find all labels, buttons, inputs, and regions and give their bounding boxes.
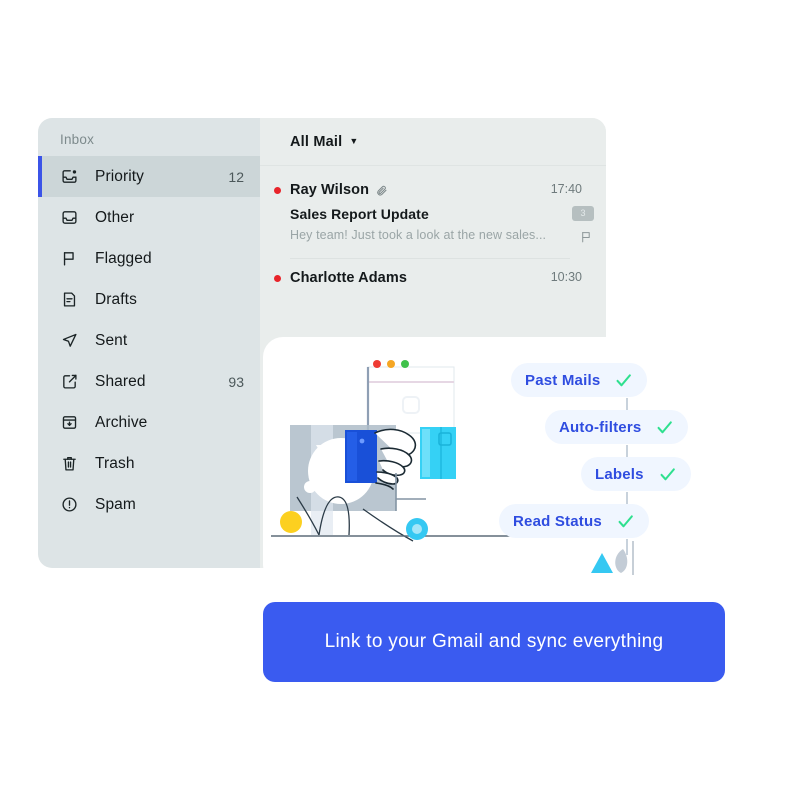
sync-step-past-mails: Past Mails	[511, 363, 647, 397]
sidebar-title: Inbox	[60, 132, 94, 147]
attachment-paperclip-icon	[376, 184, 388, 197]
step-pill: Auto-filters	[545, 410, 688, 444]
flag-icon[interactable]	[580, 230, 593, 244]
sidebar-item-label: Priority	[95, 168, 228, 186]
mail-list-item[interactable]: Ray Wilson 17:40 Sales Report Update Hey…	[260, 178, 606, 256]
step-pill: Labels	[581, 457, 691, 491]
sync-step-auto-filters: Auto-filters	[545, 410, 688, 444]
list-divider	[290, 258, 570, 259]
sidebar-item-label: Flagged	[95, 250, 244, 268]
unread-dot-icon	[274, 187, 281, 194]
chevron-down-icon: ▼	[349, 137, 358, 146]
sidebar-item-label: Drafts	[95, 291, 244, 309]
draft-document-icon	[60, 290, 79, 309]
sidebar-item-label: Shared	[95, 373, 228, 391]
sidebar-item-label: Other	[95, 209, 244, 227]
mail-timestamp: 17:40	[551, 182, 582, 196]
step-label: Past Mails	[525, 372, 600, 389]
sync-step-labels: Labels	[581, 457, 691, 491]
sidebar-item-label: Trash	[95, 455, 244, 473]
sidebar-item-flagged[interactable]: Flagged	[38, 238, 260, 279]
mail-subject: Sales Report Update	[290, 206, 582, 222]
screenshot-root: Inbox Priority 12	[0, 0, 788, 788]
sync-promo-card: Past Mails Auto-filters	[263, 337, 725, 585]
check-icon	[614, 371, 633, 390]
sidebar-item-other[interactable]: Other	[38, 197, 260, 238]
step-connector	[626, 539, 628, 555]
check-icon	[616, 512, 635, 531]
mail-timestamp: 10:30	[551, 270, 582, 284]
archive-box-icon	[60, 413, 79, 432]
sync-steps-list: Past Mails Auto-filters	[485, 363, 725, 563]
check-icon	[658, 465, 677, 484]
mail-count-badge: 3	[572, 206, 594, 221]
inbox-priority-icon	[60, 167, 79, 186]
step-label: Labels	[595, 466, 644, 483]
mail-sidebar: Inbox Priority 12	[38, 118, 260, 568]
paper-plane-icon	[60, 331, 79, 350]
sidebar-item-trash[interactable]: Trash	[38, 443, 260, 484]
mail-filter-label: All Mail	[290, 134, 342, 150]
sidebar-item-archive[interactable]: Archive	[38, 402, 260, 443]
alert-circle-icon	[60, 495, 79, 514]
step-pill: Read Status	[499, 504, 649, 538]
sync-step-read-status: Read Status	[499, 504, 649, 538]
sidebar-item-count: 93	[228, 374, 244, 390]
check-icon	[655, 418, 674, 437]
flag-icon	[60, 249, 79, 268]
mail-filter-dropdown[interactable]: All Mail ▼	[260, 118, 606, 166]
mail-sender: Charlotte Adams	[290, 270, 407, 286]
sidebar-item-spam[interactable]: Spam	[38, 484, 260, 525]
sidebar-item-sent[interactable]: Sent	[38, 320, 260, 361]
sidebar-item-priority[interactable]: Priority 12	[38, 156, 260, 197]
share-box-icon	[60, 372, 79, 391]
unread-dot-icon	[274, 275, 281, 282]
inbox-icon	[60, 208, 79, 227]
step-pill: Past Mails	[511, 363, 647, 397]
mail-list-item[interactable]: Charlotte Adams 10:30	[260, 266, 606, 306]
step-label: Read Status	[513, 513, 602, 530]
link-gmail-button-label: Link to your Gmail and sync everything	[325, 631, 664, 653]
sidebar-item-shared[interactable]: Shared 93	[38, 361, 260, 402]
sidebar-item-label: Spam	[95, 496, 244, 514]
sidebar-item-count: 12	[228, 169, 244, 185]
mail-item-header: Ray Wilson 17:40	[290, 178, 582, 202]
step-label: Auto-filters	[559, 419, 641, 436]
mail-item-header: Charlotte Adams 10:30	[290, 266, 582, 290]
sidebar-item-label: Sent	[95, 332, 244, 350]
link-gmail-button[interactable]: Link to your Gmail and sync everything	[263, 602, 725, 682]
sidebar-nav-list: Priority 12 Other	[38, 156, 260, 525]
mail-sync-illustration	[263, 337, 513, 585]
sidebar-item-label: Archive	[95, 414, 244, 432]
trash-icon	[60, 454, 79, 473]
sidebar-item-drafts[interactable]: Drafts	[38, 279, 260, 320]
mail-sender: Ray Wilson	[290, 182, 369, 198]
mail-preview: Hey team! Just took a look at the new sa…	[290, 228, 582, 242]
